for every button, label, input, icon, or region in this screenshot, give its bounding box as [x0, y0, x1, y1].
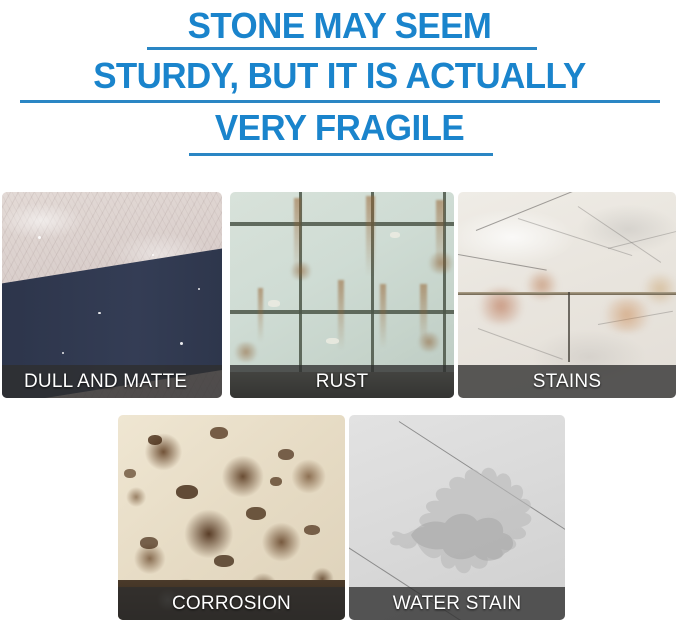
tile-caption-water-stain: WATER STAIN — [349, 587, 565, 620]
paint-chip — [268, 300, 280, 307]
speck — [180, 342, 183, 345]
corrosion-fleck — [278, 449, 294, 460]
tile-dull-and-matte[interactable]: DULL AND MATTE — [2, 192, 222, 398]
corrosion-fleck — [214, 555, 234, 567]
rust-blot — [288, 262, 314, 280]
tile-rust[interactable]: RUST — [230, 192, 454, 398]
paint-chip — [390, 232, 400, 238]
headline-underline-1 — [147, 47, 537, 50]
tile-joint-horizontal — [458, 292, 676, 295]
corrosion-fleck — [148, 435, 162, 445]
headline-underline-2 — [20, 100, 660, 103]
rust-streak — [258, 288, 263, 342]
rust-blot — [426, 252, 454, 274]
tile-water-stain[interactable]: WATER STAIN — [349, 415, 565, 620]
tile-stains[interactable]: STAINS — [458, 192, 676, 398]
tile-joint-vertical — [568, 292, 570, 362]
headline-line-1: STONE MAY SEEM — [10, 8, 669, 44]
corrosion-fleck — [176, 485, 198, 499]
headline-line-2: STURDY, BUT IT IS ACTUALLY — [10, 58, 669, 94]
headline-block: STONE MAY SEEM STURDY, BUT IT IS ACTUALL… — [0, 0, 679, 178]
speck — [98, 312, 101, 314]
marble-vein — [458, 254, 547, 271]
speck — [62, 352, 64, 354]
tile-caption-stains: STAINS — [458, 365, 676, 398]
corrosion-fleck — [304, 525, 320, 535]
tile-caption-corrosion: CORROSION — [118, 587, 345, 620]
corrosion-fleck — [124, 469, 136, 478]
speck — [198, 288, 200, 290]
rust-bloom — [598, 298, 656, 332]
corrosion-fleck — [270, 477, 282, 486]
rust-streak — [366, 196, 375, 276]
headline-line-3: VERY FRAGILE — [10, 110, 669, 146]
tile-corrosion[interactable]: CORROSION — [118, 415, 345, 620]
rust-streak — [380, 284, 386, 348]
tile-caption-dull-and-matte: DULL AND MATTE — [2, 365, 222, 398]
marble-vein — [578, 206, 661, 263]
marble-vein — [476, 192, 615, 231]
corrosion-fleck — [210, 427, 228, 439]
tile-caption-rust: RUST — [230, 365, 454, 398]
corrosion-fleck — [246, 507, 266, 520]
paint-chip — [326, 338, 339, 344]
speck — [38, 236, 41, 239]
rust-blot — [416, 332, 442, 352]
corrosion-fleck — [140, 537, 158, 549]
speck — [152, 254, 154, 256]
marble-vein — [478, 328, 563, 360]
rust-bloom — [640, 274, 676, 304]
marble-vein — [518, 218, 632, 256]
headline-underline-3 — [189, 153, 493, 156]
rust-blot — [232, 342, 260, 362]
rust-bloom — [524, 270, 560, 300]
